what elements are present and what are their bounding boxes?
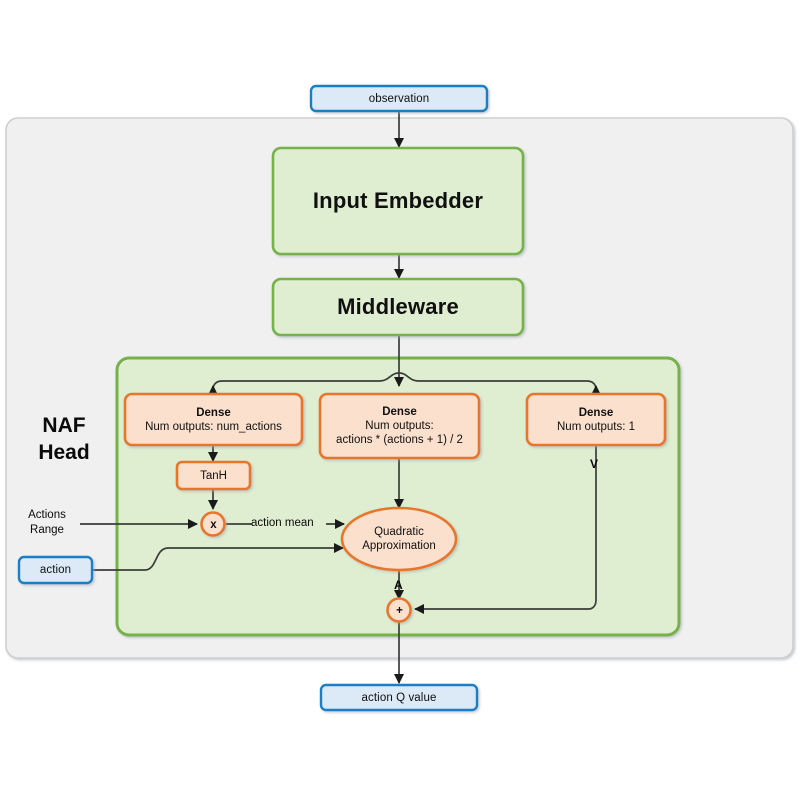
dense-num-actions-box[interactable] xyxy=(125,394,302,445)
quadratic-approximation-node[interactable] xyxy=(342,508,456,570)
dense-value-box[interactable] xyxy=(527,394,665,445)
input-embedder-box[interactable] xyxy=(273,148,523,254)
multiply-node[interactable] xyxy=(202,513,225,536)
action-q-value-box[interactable] xyxy=(321,685,477,710)
observation-box[interactable] xyxy=(311,86,487,111)
action-box[interactable] xyxy=(19,557,92,583)
diagram-canvas xyxy=(0,0,800,800)
naf-head-diagram: observation Input Embedder Middleware NA… xyxy=(0,0,800,800)
add-node[interactable] xyxy=(388,599,411,622)
dense-quadratic-terms-box[interactable] xyxy=(320,394,479,458)
middleware-box[interactable] xyxy=(273,279,523,335)
tanh-box[interactable] xyxy=(177,462,250,489)
